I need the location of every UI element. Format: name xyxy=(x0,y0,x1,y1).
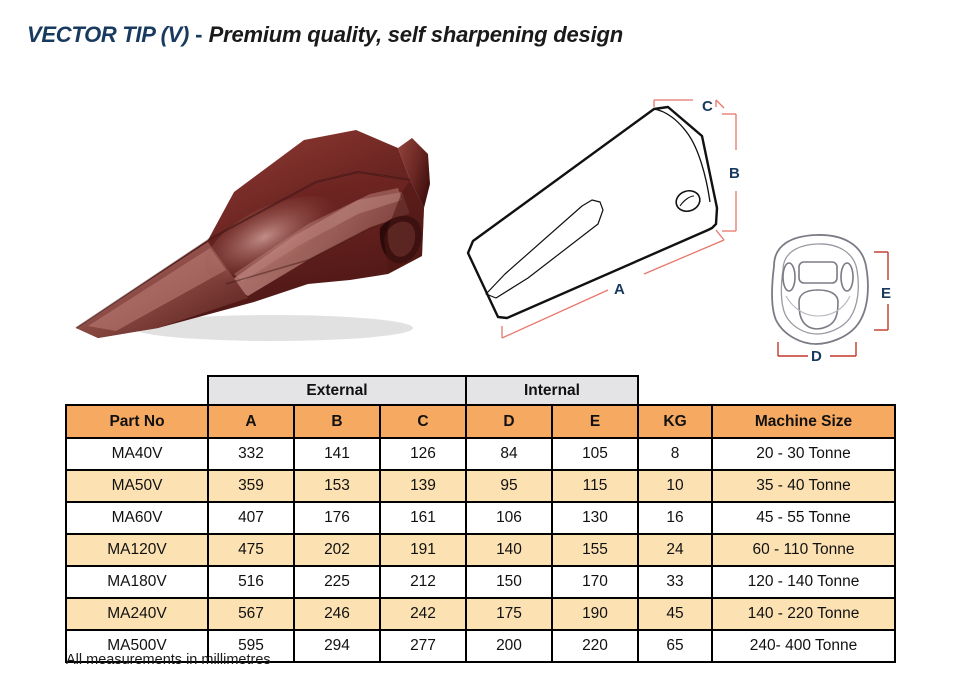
dimension-label-a: A xyxy=(614,281,625,298)
page-title-separator: - xyxy=(189,22,209,47)
table-row: MA40V 332 141 126 84 105 8 20 - 30 Tonne xyxy=(66,438,895,470)
cell-kg: 16 xyxy=(638,502,712,534)
column-header-kg: KG xyxy=(638,405,712,438)
cell-d: 106 xyxy=(466,502,552,534)
cell-e: 130 xyxy=(552,502,638,534)
cell-c: 212 xyxy=(380,566,466,598)
cell-c: 139 xyxy=(380,470,466,502)
cell-d: 95 xyxy=(466,470,552,502)
table-row: MA180V 516 225 212 150 170 33 120 - 140 … xyxy=(66,566,895,598)
cell-d: 140 xyxy=(466,534,552,566)
cell-b: 141 xyxy=(294,438,380,470)
table-row: MA240V 567 246 242 175 190 45 140 - 220 … xyxy=(66,598,895,630)
cell-part-no: MA40V xyxy=(66,438,208,470)
cell-b: 176 xyxy=(294,502,380,534)
cell-kg: 45 xyxy=(638,598,712,630)
cell-c: 126 xyxy=(380,438,466,470)
side-outline xyxy=(468,107,717,318)
specification-table: External Internal Part No A B C D E KG M… xyxy=(65,375,896,663)
figures-area: C B A xyxy=(0,60,970,370)
group-header-blank-left xyxy=(66,376,208,405)
table-row: MA50V 359 153 139 95 115 10 35 - 40 Tonn… xyxy=(66,470,895,502)
cell-machine-size: 140 - 220 Tonne xyxy=(712,598,895,630)
cell-kg: 65 xyxy=(638,630,712,662)
cell-e: 155 xyxy=(552,534,638,566)
cell-a: 475 xyxy=(208,534,294,566)
group-header-external: External xyxy=(208,376,466,405)
cell-e: 105 xyxy=(552,438,638,470)
cell-a: 407 xyxy=(208,502,294,534)
table-group-header-row: External Internal xyxy=(66,376,895,405)
column-header-b: B xyxy=(294,405,380,438)
column-header-e: E xyxy=(552,405,638,438)
cell-machine-size: 240- 400 Tonne xyxy=(712,630,895,662)
cell-d: 175 xyxy=(466,598,552,630)
column-header-c: C xyxy=(380,405,466,438)
cell-c: 242 xyxy=(380,598,466,630)
cell-b: 202 xyxy=(294,534,380,566)
tip-photo-svg xyxy=(58,88,448,356)
cell-d: 84 xyxy=(466,438,552,470)
cell-b: 294 xyxy=(294,630,380,662)
cell-a: 516 xyxy=(208,566,294,598)
table-row: MA60V 407 176 161 106 130 16 45 - 55 Ton… xyxy=(66,502,895,534)
cell-machine-size: 45 - 55 Tonne xyxy=(712,502,895,534)
column-header-machine-size: Machine Size xyxy=(712,405,895,438)
cell-d: 200 xyxy=(466,630,552,662)
dimension-label-e: E xyxy=(881,285,891,302)
table-column-header-row: Part No A B C D E KG Machine Size xyxy=(66,405,895,438)
page-title: VECTOR TIP (V) - Premium quality, self s… xyxy=(27,22,927,54)
cell-machine-size: 120 - 140 Tonne xyxy=(712,566,895,598)
column-header-a: A xyxy=(208,405,294,438)
table-row: MA120V 475 202 191 140 155 24 60 - 110 T… xyxy=(66,534,895,566)
dimension-label-c: C xyxy=(702,98,713,115)
side-view-svg: C B A xyxy=(440,78,780,358)
cell-part-no: MA60V xyxy=(66,502,208,534)
page-title-subtitle: Premium quality, self sharpening design xyxy=(209,22,623,47)
page-title-main: VECTOR TIP (V) xyxy=(27,22,189,47)
cell-b: 246 xyxy=(294,598,380,630)
column-header-part-no: Part No xyxy=(66,405,208,438)
vector-tip-3d-render xyxy=(58,88,448,356)
cell-part-no: MA120V xyxy=(66,534,208,566)
column-header-d: D xyxy=(466,405,552,438)
group-header-blank-kg xyxy=(638,376,712,405)
cell-e: 220 xyxy=(552,630,638,662)
cell-machine-size: 20 - 30 Tonne xyxy=(712,438,895,470)
cell-c: 277 xyxy=(380,630,466,662)
cell-b: 153 xyxy=(294,470,380,502)
cell-a: 359 xyxy=(208,470,294,502)
cell-machine-size: 35 - 40 Tonne xyxy=(712,470,895,502)
measurement-footnote: All measurements in millimetres xyxy=(66,652,271,668)
cell-d: 150 xyxy=(466,566,552,598)
dimension-label-b: B xyxy=(729,165,740,182)
cell-c: 161 xyxy=(380,502,466,534)
cell-e: 170 xyxy=(552,566,638,598)
cell-a: 567 xyxy=(208,598,294,630)
cell-a: 332 xyxy=(208,438,294,470)
vector-tip-cross-section: E D xyxy=(758,230,948,365)
dimension-label-d: D xyxy=(811,348,822,365)
cell-machine-size: 60 - 110 Tonne xyxy=(712,534,895,566)
cell-part-no: MA180V xyxy=(66,566,208,598)
cell-kg: 33 xyxy=(638,566,712,598)
cell-part-no: MA240V xyxy=(66,598,208,630)
cell-c: 191 xyxy=(380,534,466,566)
cell-e: 190 xyxy=(552,598,638,630)
cell-kg: 8 xyxy=(638,438,712,470)
vector-tip-side-line-drawing: C B A xyxy=(440,78,780,358)
datasheet-page: VECTOR TIP (V) - Premium quality, self s… xyxy=(0,0,970,698)
cell-kg: 24 xyxy=(638,534,712,566)
group-header-internal: Internal xyxy=(466,376,638,405)
cell-e: 115 xyxy=(552,470,638,502)
group-header-blank-machine xyxy=(712,376,895,405)
cell-kg: 10 xyxy=(638,470,712,502)
cell-b: 225 xyxy=(294,566,380,598)
cross-section-svg: E D xyxy=(758,230,948,365)
cell-part-no: MA50V xyxy=(66,470,208,502)
